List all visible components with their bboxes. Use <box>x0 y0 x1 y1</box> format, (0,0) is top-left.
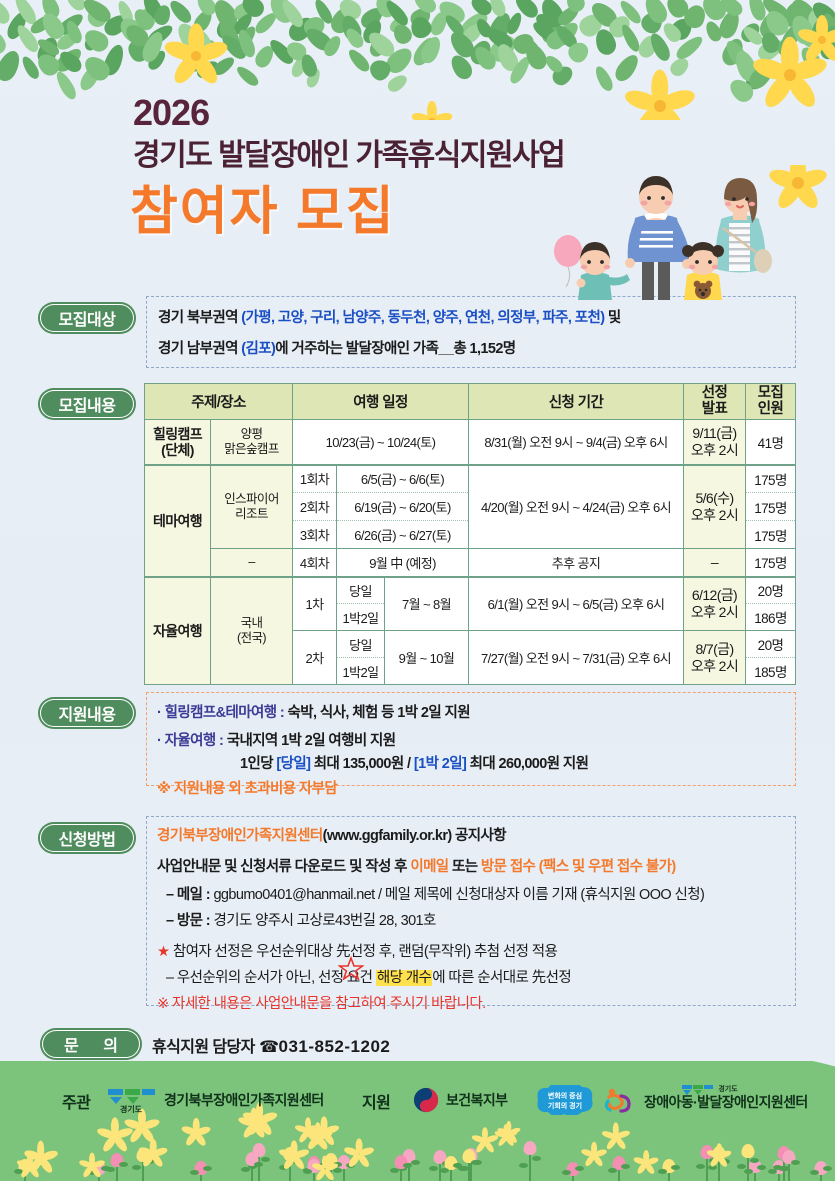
row2-place-l1: 인스파이어 <box>224 492 279 506</box>
badge-recruit-target: 모집대상 <box>38 302 136 334</box>
col-quota-line2: 인원 <box>758 401 783 417</box>
star-icon: ★ <box>157 944 169 960</box>
row6-round: 1차 <box>293 577 337 631</box>
row1-program-l2: (단체) <box>161 442 194 458</box>
apply-mail-value: ggbumo0401@hanmail.net / 메일 제목에 신청대상자 이름… <box>213 887 704 903</box>
apply-visit-value: 경기도 양주시 고상로43번길 28, 301호 <box>213 913 435 929</box>
row2-announce: 5/6(수) 오후 2시 <box>684 465 746 549</box>
apply-detail-note: ※ 자세한 내용은 사업안내문을 참고하여 주시기 바랍니다. <box>157 992 486 1013</box>
korea-government-taegeuk-icon <box>412 1087 440 1113</box>
apply-line-visit: – 방문 : 경기도 양주시 고상로43번길 28, 301호 <box>166 909 436 930</box>
row6-quota1: 20명 <box>746 577 796 604</box>
row1-quota: 41명 <box>746 420 796 465</box>
support-free-label: · 자율여행 : <box>157 733 223 749</box>
row2-announce-l1: 5/6(수) <box>695 490 733 506</box>
svg-text:변화의 중심: 변화의 중심 <box>548 1091 582 1100</box>
row2-quota: 175명 <box>746 465 796 493</box>
apply-priority-text-b: 에 따른 순서대로 先선정 <box>432 970 571 986</box>
row1-program-l1: 힐링캠프 <box>153 426 202 442</box>
contact-phone: 031-852-1202 <box>278 1037 390 1056</box>
row6-place-l1: 국내 <box>241 616 263 630</box>
row4-schedule: 6/26(금) ~ 6/27(토) <box>337 521 469 549</box>
poster-page: 2026 경기도 발달장애인 가족휴식지원사업 참여자 모집 <box>0 0 835 1181</box>
row7-sub2: 1박2일 <box>337 658 385 685</box>
footer-host-name: 경기북부장애인가족지원센터 <box>164 1090 324 1110</box>
contact-info: 휴식지원 담당자 ☎031-852-1202 <box>152 1033 390 1057</box>
table-row: 자율여행 국내 (전국) 1차 당일 7월 ~ 8월 6/1(월) 오전 9시 … <box>145 577 796 604</box>
support-line-1: · 힐링캠프&테마여행 : 숙박, 식사, 체험 등 1박 2일 지원 <box>157 701 470 722</box>
row5-round: 4회차 <box>293 549 337 577</box>
badge-support-content: 지원내용 <box>38 697 136 729</box>
phone-icon: ☎ <box>259 1039 278 1056</box>
support-line-2: · 자율여행 : 국내지역 1박 2일 여행비 지원 <box>157 729 396 750</box>
recruit-target-line-1: 경기 북부권역 (가평, 고양, 구리, 남양주, 동두천, 양주, 연천, 의… <box>158 306 621 327</box>
footer-center-name: 장애아동·발달장애인지원센터 <box>644 1092 808 1112</box>
row1-period: 8/31(월) 오전 9시 ~ 9/4(금) 오후 6시 <box>469 420 684 465</box>
apply-priority-highlight: 해당 개수 <box>376 970 432 986</box>
bottom-grass-decoration <box>0 1061 835 1181</box>
col-announce-line1: 선정 <box>702 385 727 401</box>
apply-or-text: 또는 <box>449 859 481 875</box>
row2-place-l2: 리조트 <box>235 507 268 521</box>
row2-round: 1회차 <box>293 465 337 493</box>
row6-period: 6/1(월) 오전 9시 ~ 6/5(금) 오후 6시 <box>469 577 684 631</box>
support-line-3: 1인당 [당일] 최대 135,000원 / [1박 2일] 최대 260,00… <box>240 752 588 773</box>
support-overnight-amount: 최대 260,000원 지원 <box>466 756 588 772</box>
target-region-north-cities: (가평, 고양, 구리, 남양주, 동두천, 양주, 연천, 의정부, 파주, … <box>241 310 604 326</box>
apply-line-site: 경기북부장애인가족지원센터(www.ggfamily.or.kr) 공지사항 <box>157 824 506 845</box>
row7-quota1: 20명 <box>746 631 796 658</box>
support-note: ※ 지원내용 외 초과비용 자부담 <box>157 777 337 798</box>
apply-email-tag: 이메일 <box>410 859 448 875</box>
row4-round: 3회차 <box>293 521 337 549</box>
recruit-target-line-2: 경기 남부권역 (김포)에 거주하는 발달장애인 가족__총 1,152명 <box>158 337 516 358</box>
col-schedule: 여행 일정 <box>293 384 469 420</box>
support-overnight-tag: [1박 2일] <box>414 756 466 772</box>
row7-quota2: 185명 <box>746 658 796 685</box>
support-camp-label: · 힐링캠프&테마여행 : <box>157 705 284 721</box>
row2-announce-l2: 오후 2시 <box>691 507 738 523</box>
row4-quota: 175명 <box>746 521 796 549</box>
footer-support-label: 지원 <box>362 1089 390 1113</box>
target-region-south-cities: (김포) <box>241 341 275 357</box>
row2-schedule: 6/5(금) ~ 6/6(토) <box>337 465 469 493</box>
apply-line-mail: – 메일 : ggbumo0401@hanmail.net / 메일 제목에 신… <box>166 883 704 904</box>
support-per-person: 1인당 <box>240 756 276 772</box>
footer-host-label: 주관 <box>62 1089 90 1113</box>
target-region-south-label: 경기 남부권역 <box>158 341 241 357</box>
row6-program: 자율여행 <box>145 577 211 685</box>
row1-announce-l1: 9/11(금) <box>692 425 736 441</box>
support-day-amount: 최대 135,000원 / <box>310 756 414 772</box>
col-announce-line2: 발표 <box>702 401 727 417</box>
target-line1-suffix: 및 <box>605 310 621 326</box>
row7-announce-l1: 8/7(금) <box>695 641 733 657</box>
row1-place: 양평 맑은숲캠프 <box>211 420 293 465</box>
row6-announce-l1: 6/12(금) <box>692 587 737 603</box>
row6-sub1: 당일 <box>337 577 385 604</box>
svg-text:경기도: 경기도 <box>120 1104 143 1113</box>
apply-center-name: 경기북부장애인가족지원센터 <box>157 828 323 844</box>
table-header-row: 주제/장소 여행 일정 신청 기간 선정 발표 모집 인원 <box>145 384 796 420</box>
row3-schedule: 6/19(금) ~ 6/20(토) <box>337 493 469 521</box>
row3-quota: 175명 <box>746 493 796 521</box>
footer-logos: 주관 경기도 경기북부장애인가족지원센터 지원 보건복지부 변화의 중심 기회의… <box>0 1085 835 1115</box>
support-camp-detail: 숙박, 식사, 체험 등 1박 2일 지원 <box>284 705 470 721</box>
col-announce: 선정 발표 <box>684 384 746 420</box>
row6-sub2: 1박2일 <box>337 604 385 631</box>
row6-place: 국내 (전국) <box>211 577 293 685</box>
apply-mail-label: – 메일 : <box>166 887 213 903</box>
row1-place-l2: 맑은숲캠프 <box>224 442 279 456</box>
poster-subtitle: 경기도 발달장애인 가족휴식지원사업 <box>133 130 564 174</box>
apply-center-url: (www.ggfamily.or.kr) 공지사항 <box>323 828 506 844</box>
row7-sub1: 당일 <box>337 631 385 658</box>
apply-visit-label: – 방문 : <box>166 913 213 929</box>
table-row: 힐링캠프 (단체) 양평 맑은숲캠프 10/23(금) ~ 10/24(토) 8… <box>145 420 796 465</box>
badge-contact: 문 의 <box>40 1028 142 1060</box>
row1-program: 힐링캠프 (단체) <box>145 420 211 465</box>
row1-place-l1: 양평 <box>241 427 263 441</box>
row7-announce: 8/7(금) 오후 2시 <box>684 631 746 685</box>
row5-announce: – <box>684 549 746 577</box>
row2-program: 테마여행 <box>145 465 211 577</box>
badge-apply-method: 신청방법 <box>38 822 136 854</box>
row6-announce-l2: 오후 2시 <box>691 604 738 620</box>
row6-announce: 6/12(금) 오후 2시 <box>684 577 746 631</box>
target-total-count: 에 거주하는 발달장애인 가족__총 1,152명 <box>275 341 515 357</box>
row2-place: 인스파이어 리조트 <box>211 465 293 549</box>
col-quota-line1: 모집 <box>758 385 783 401</box>
gyeonggi-logo-icon: 경기도 <box>108 1087 158 1113</box>
apply-visit-tag: 방문 접수 (팩스 및 우편 접수 불가) <box>481 859 676 875</box>
row7-period: 7/27(월) 오전 9시 ~ 7/31(금) 오후 6시 <box>469 631 684 685</box>
support-day-tag: [당일] <box>276 756 310 772</box>
col-period: 신청 기간 <box>469 384 684 420</box>
row6-quota2: 186명 <box>746 604 796 631</box>
support-free-detail: 국내지역 1박 2일 여행비 지원 <box>223 733 395 749</box>
apply-line-method: 사업안내문 및 신청서류 다운로드 및 작성 후 이메일 또는 방문 접수 (팩… <box>157 855 676 876</box>
row5-period: 추후 공지 <box>469 549 684 577</box>
row3-round: 2회차 <box>293 493 337 521</box>
row1-announce: 9/11(금) 오후 2시 <box>684 420 746 465</box>
poster-header: 2026 경기도 발달장애인 가족휴식지원사업 참여자 모집 <box>0 82 835 267</box>
red-star-annotation-icon <box>338 956 364 980</box>
row6-schedule: 7월 ~ 8월 <box>385 577 469 631</box>
target-region-north-label: 경기 북부권역 <box>158 310 241 326</box>
poster-title: 참여자 모집 <box>130 169 396 244</box>
row1-schedule: 10/23(금) ~ 10/24(토) <box>293 420 469 465</box>
row7-announce-l2: 오후 2시 <box>691 658 738 674</box>
disability-center-logo-icon <box>604 1087 638 1113</box>
row5-schedule: 9월 中 (예정) <box>337 549 469 577</box>
row6-place-l2: (전국) <box>237 631 266 645</box>
col-quota: 모집 인원 <box>746 384 796 420</box>
gyeonggi-slogan-icon: 변화의 중심 기회의 경기 <box>530 1085 600 1115</box>
contact-label: 휴식지원 담당자 <box>152 1039 255 1056</box>
row1-announce-l2: 오후 2시 <box>691 442 738 458</box>
row5-place: – <box>211 549 293 577</box>
row7-schedule: 9월 ~ 10월 <box>385 631 469 685</box>
svg-text:기회의 경기: 기회의 경기 <box>548 1101 582 1110</box>
apply-line-priority: – 우선순위의 순서가 아닌, 선정 요건 해당 개수에 따른 순서대로 先선정 <box>166 966 571 987</box>
row7-round: 2차 <box>293 631 337 685</box>
row5-quota: 175명 <box>746 549 796 577</box>
program-table: 주제/장소 여행 일정 신청 기간 선정 발표 모집 인원 힐링캠프 (단체) <box>144 383 796 685</box>
row2-period: 4/20(월) 오전 9시 ~ 4/24(금) 오후 6시 <box>469 465 684 549</box>
table-row: – 4회차 9월 中 (예정) 추후 공지 – 175명 <box>145 549 796 577</box>
apply-download-text: 사업안내문 및 신청서류 다운로드 및 작성 후 <box>157 859 410 875</box>
col-theme-place: 주제/장소 <box>145 384 293 420</box>
footer-support-name: 보건복지부 <box>446 1090 507 1110</box>
badge-recruit-content: 모집내용 <box>38 388 136 420</box>
poster-year: 2026 <box>133 92 209 134</box>
table-row: 테마여행 인스파이어 리조트 1회차 6/5(금) ~ 6/6(토) 4/20(… <box>145 465 796 493</box>
